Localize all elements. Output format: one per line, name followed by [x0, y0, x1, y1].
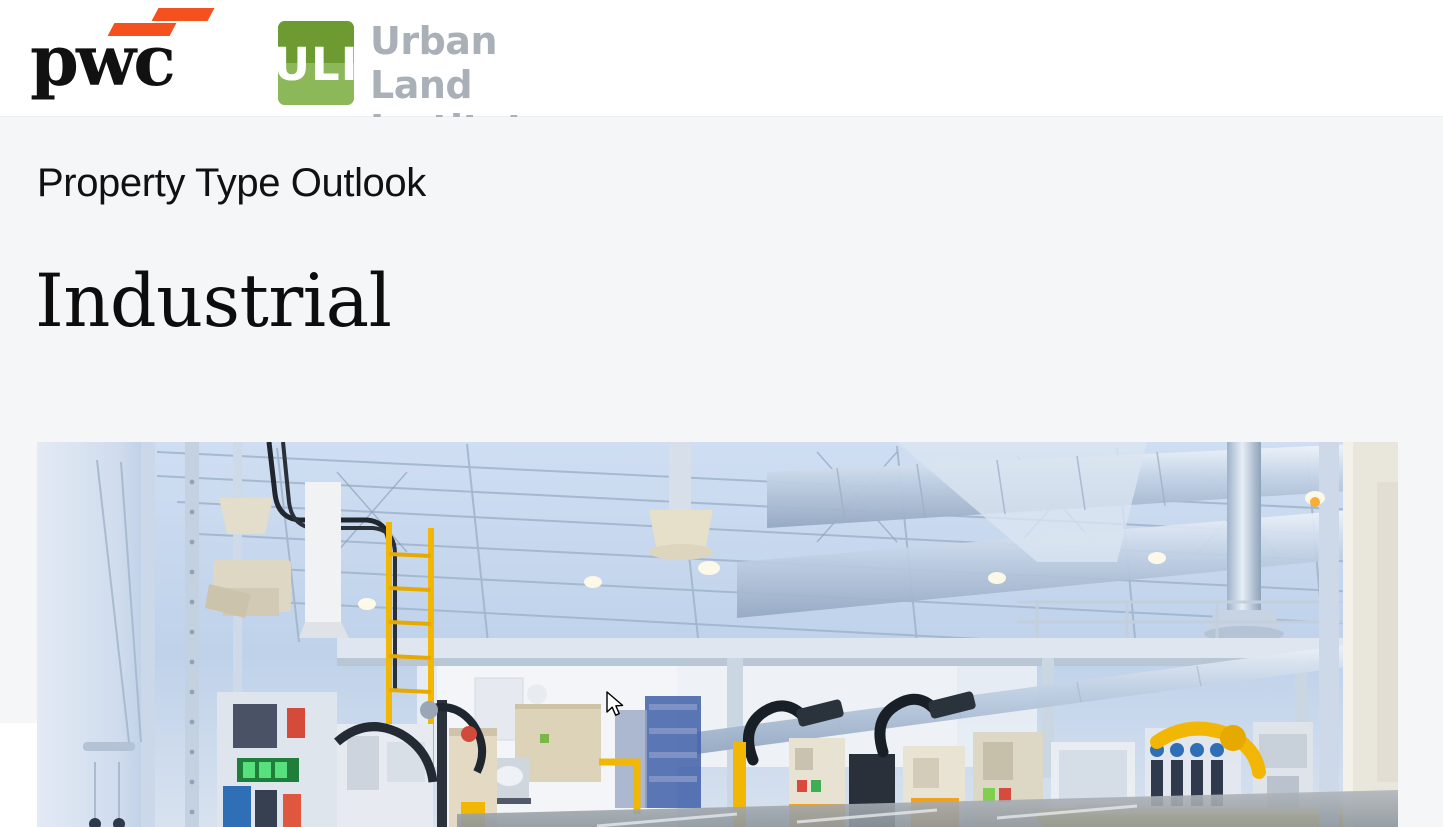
page-title: Industrial [35, 265, 392, 338]
content-area: Property Type Outlook Industrial [0, 117, 1443, 827]
page-root: pwc ULI Urban Land Institute Property Ty… [0, 0, 1443, 827]
hero-image [37, 442, 1398, 827]
pwc-logo[interactable]: pwc [30, 16, 230, 101]
section-eyebrow: Property Type Outlook [37, 160, 426, 206]
uli-logo[interactable]: ULI Urban Land Institute [278, 21, 578, 105]
uli-mark-letters: ULI [278, 21, 354, 105]
pwc-wordmark: pwc [30, 26, 173, 96]
uli-mark-icon: ULI [278, 21, 354, 105]
page-card-bottom-gutter [0, 723, 37, 827]
brand-header-bar: pwc ULI Urban Land Institute [0, 0, 1443, 117]
